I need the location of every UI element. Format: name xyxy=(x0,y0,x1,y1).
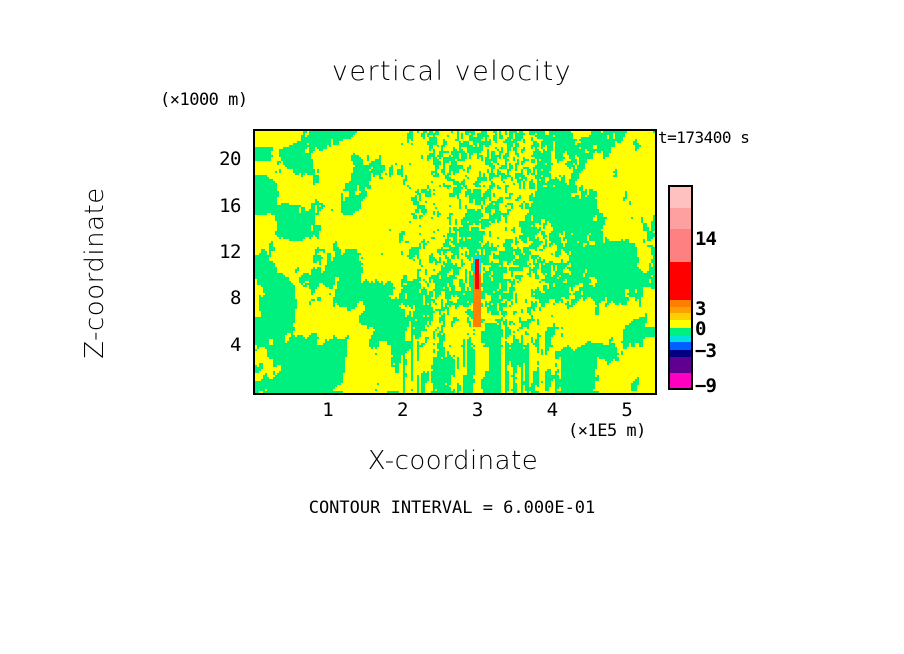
colorbar xyxy=(668,185,693,390)
y-tick-label: 4 xyxy=(197,334,241,356)
colorbar-tick-label: 14 xyxy=(695,228,716,250)
colorbar-band xyxy=(670,342,691,350)
colorbar-band xyxy=(670,328,691,336)
colorbar-band xyxy=(670,357,691,372)
y-axis-title: Z-coordinate xyxy=(80,123,110,423)
contour-plot-figure: vertical velocity (×1000 m) Z-coordinate… xyxy=(0,0,904,654)
colorbar-tick-label: −9 xyxy=(695,375,716,397)
colorbar-band xyxy=(670,320,691,328)
colorbar-band xyxy=(670,300,691,307)
colorbar-tick-label: 3 xyxy=(695,298,705,320)
contour-interval-caption: CONTOUR INTERVAL = 6.000E-01 xyxy=(0,498,904,518)
colorbar-tick-label: 0 xyxy=(695,318,705,340)
y-axis-unit-label: (×1000 m) xyxy=(160,90,248,110)
x-tick-label: 1 xyxy=(313,399,343,421)
contour-field-canvas xyxy=(255,131,655,393)
colorbar-band xyxy=(670,229,691,262)
y-tick-label: 20 xyxy=(197,148,241,170)
plot-area xyxy=(253,129,657,395)
timestamp-label: t=173400 s xyxy=(658,128,749,147)
colorbar-band xyxy=(670,313,691,320)
colorbar-band xyxy=(670,335,691,342)
colorbar-band xyxy=(670,350,691,358)
colorbar-band xyxy=(670,373,691,388)
y-tick-label: 16 xyxy=(197,195,241,217)
colorbar-band xyxy=(670,187,691,208)
page-title: vertical velocity xyxy=(0,56,904,87)
colorbar-band xyxy=(670,262,691,300)
colorbar-tick-label: −3 xyxy=(695,340,716,362)
x-axis-unit-label: (×1E5 m) xyxy=(568,421,646,441)
x-tick-label: 2 xyxy=(388,399,418,421)
x-tick-label: 3 xyxy=(462,399,492,421)
y-tick-label: 8 xyxy=(197,287,241,309)
x-axis-title: X-coordinate xyxy=(253,446,653,476)
colorbar-band xyxy=(670,307,691,314)
x-tick-label: 5 xyxy=(612,399,642,421)
x-tick-label: 4 xyxy=(537,399,567,421)
colorbar-band xyxy=(670,208,691,229)
y-tick-label: 12 xyxy=(197,241,241,263)
